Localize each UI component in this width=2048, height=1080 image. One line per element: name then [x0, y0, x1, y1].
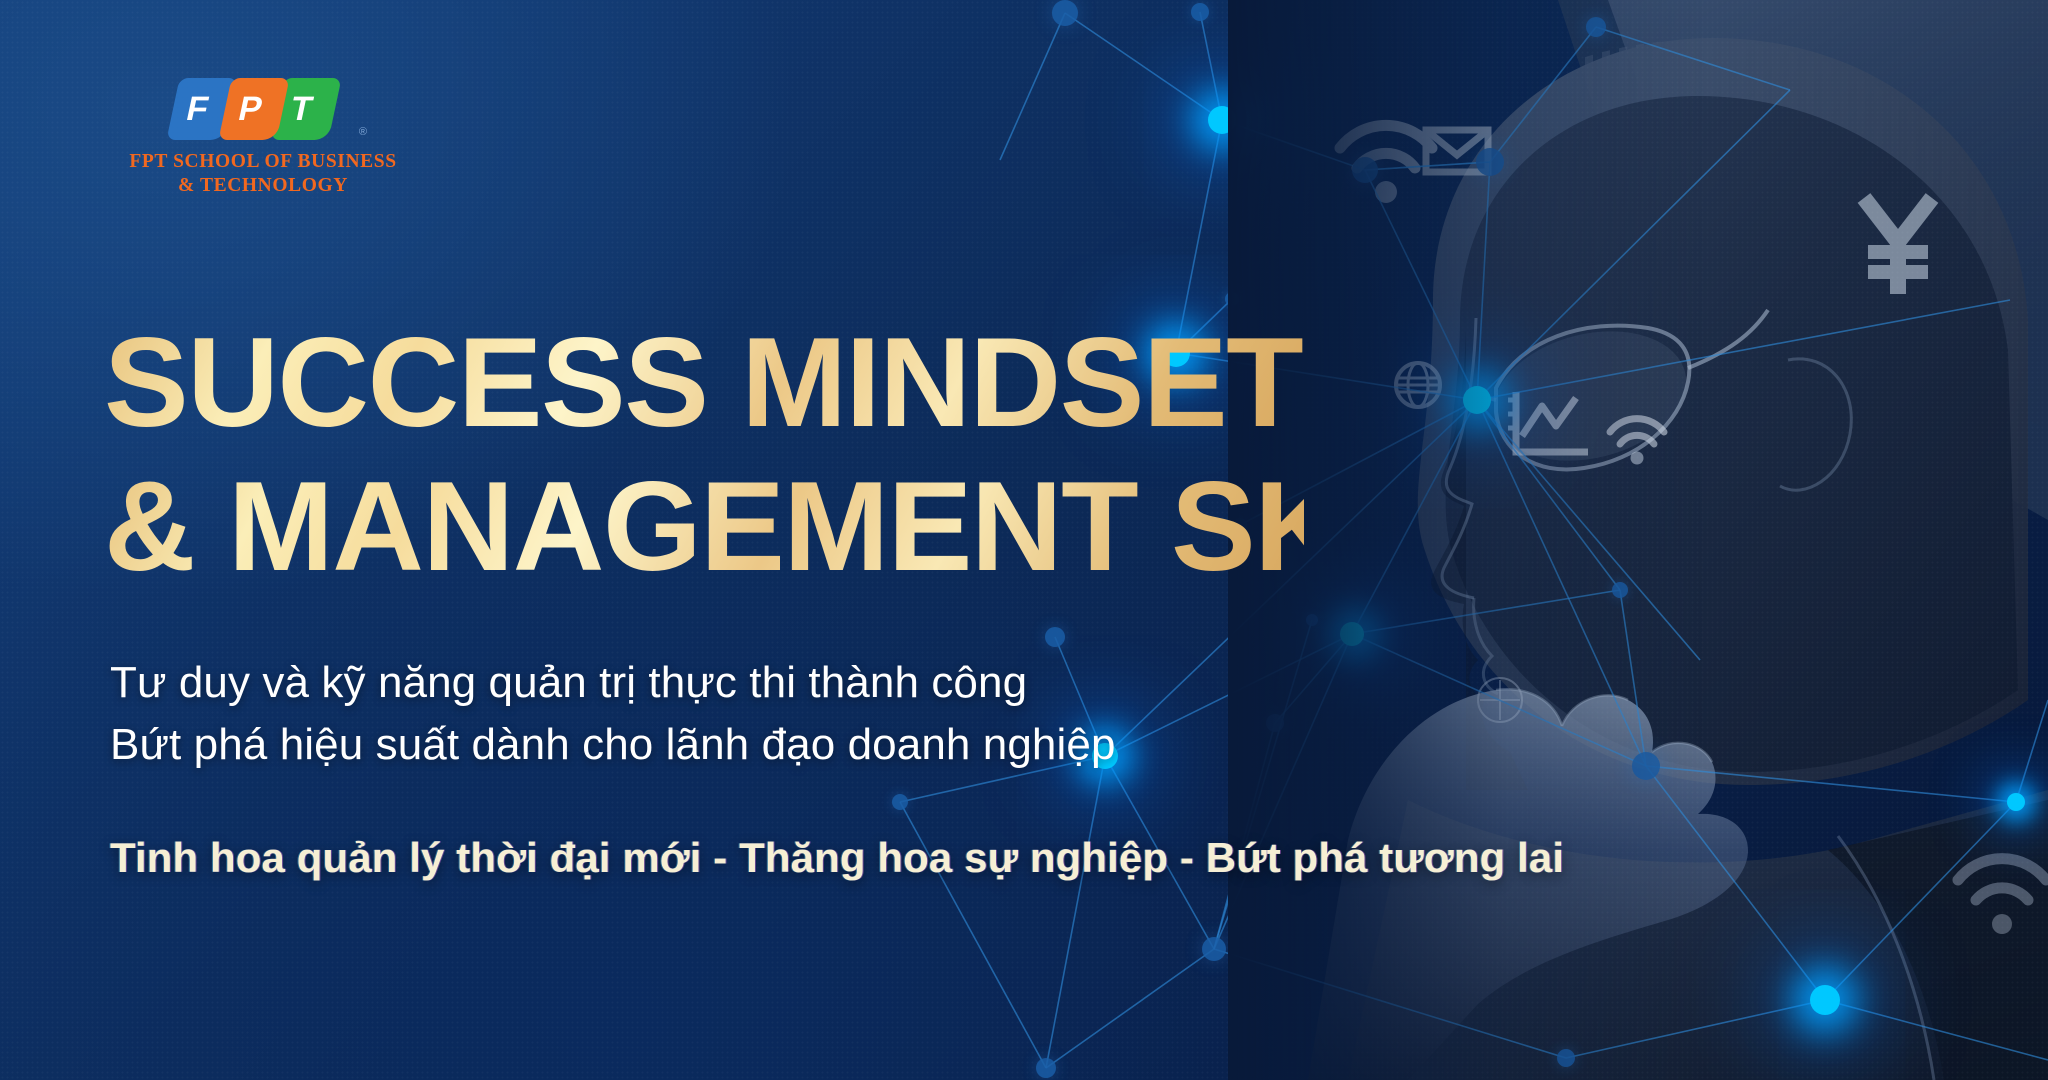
subtitle-block: Tư duy và kỹ năng quản trị thực thi thàn…: [110, 652, 1116, 777]
school-name-line-1: FPT SCHOOL OF BUSINESS: [108, 150, 418, 174]
fpt-logo[interactable]: F P T ® FPT SCHOOL OF BUSINESS & TECHNOL…: [108, 78, 418, 198]
headline-line-2: & MANAGEMENT SKILLS: [104, 462, 1304, 592]
subtitle-line-1: Tư duy và kỹ năng quản trị thực thi thàn…: [110, 652, 1116, 714]
subtitle-line-2: Bứt phá hiệu suất dành cho lãnh đạo doan…: [110, 714, 1116, 776]
fpt-logo-mark: F P T ®: [173, 78, 353, 140]
page-title: SUCCESS MINDSET & MANAGEMENT SKILLS: [104, 318, 1304, 591]
school-name-line-2: & TECHNOLOGY: [108, 174, 418, 198]
registered-trademark-icon: ®: [359, 126, 367, 138]
tagline-block: Tinh hoa quản lý thời đại mới - Thăng ho…: [110, 834, 1564, 882]
headline-line-1: SUCCESS MINDSET: [104, 318, 1304, 448]
promo-banner: F P T ® FPT SCHOOL OF BUSINESS & TECHNOL…: [0, 0, 2048, 1080]
tagline-text: Tinh hoa quản lý thời đại mới - Thăng ho…: [110, 834, 1564, 882]
